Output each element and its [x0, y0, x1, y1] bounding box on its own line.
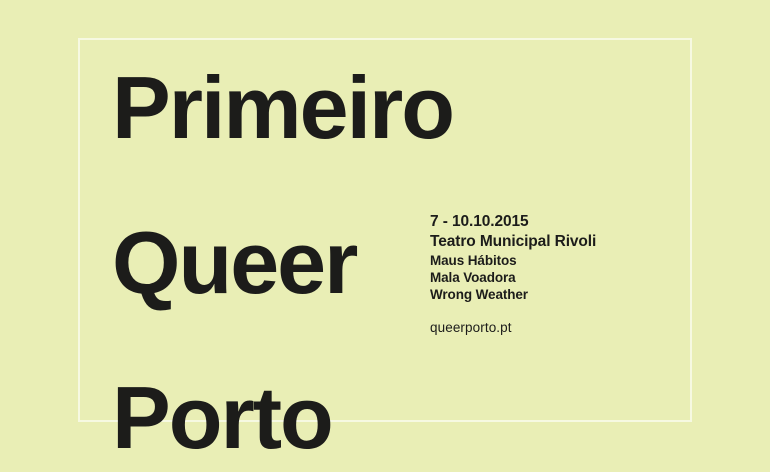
headline-line-porto: Porto [112, 340, 512, 472]
event-partner-venue-1: Maus Hábitos [430, 252, 596, 269]
headline-line-primeiro: Primeiro [112, 30, 512, 185]
event-dates: 7 - 10.10.2015 [430, 212, 596, 232]
event-info-block: 7 - 10.10.2015 Teatro Municipal Rivoli M… [430, 212, 596, 336]
event-main-venue: Teatro Municipal Rivoli [430, 232, 596, 252]
event-partner-venue-3: Wrong Weather [430, 286, 596, 303]
poster-canvas: Primeiro Queer Porto 7 - 10.10.2015 Teat… [0, 0, 770, 472]
event-website-url: queerporto.pt [430, 319, 596, 336]
event-partner-venue-2: Mala Voadora [430, 269, 596, 286]
